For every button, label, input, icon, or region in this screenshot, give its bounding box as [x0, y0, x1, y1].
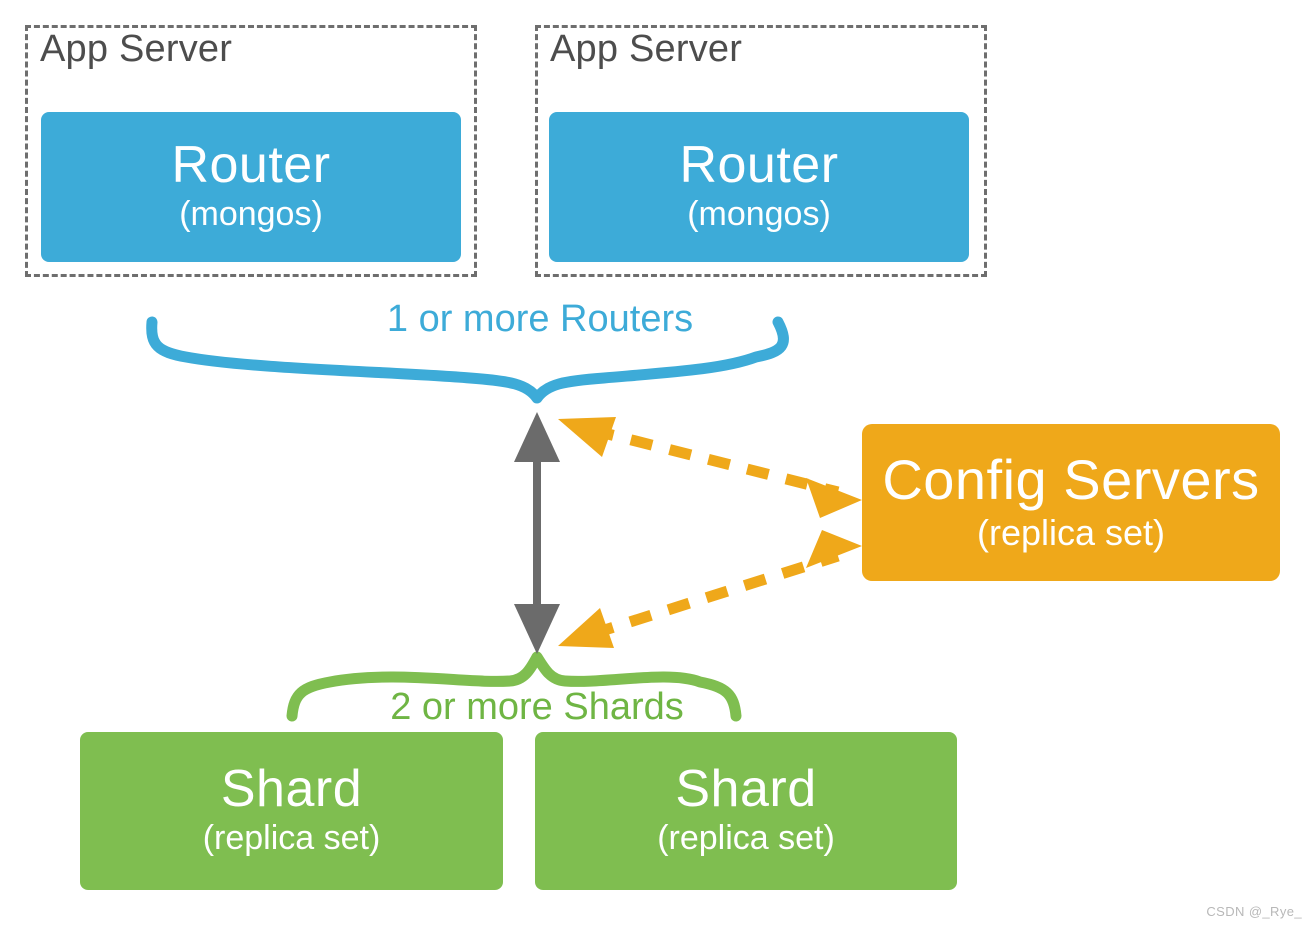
app-server-label-1: App Server	[40, 30, 232, 70]
shard-box-1[interactable]: Shard (replica set)	[80, 732, 503, 890]
routers-brace-caption: 1 or more Routers	[150, 300, 930, 338]
router-box-2[interactable]: Router (mongos)	[549, 112, 969, 262]
shards-brace-caption: 2 or more Shards	[290, 688, 784, 726]
router-title-1: Router	[171, 139, 330, 191]
config-servers-title: Config Servers	[882, 452, 1259, 508]
router-subtitle-2: (mongos)	[687, 195, 831, 234]
diagram-canvas: App Server Router (mongos) App Server Ro…	[0, 0, 1310, 927]
config-shards-arrow	[558, 530, 862, 648]
config-servers-box[interactable]: Config Servers (replica set)	[862, 424, 1280, 581]
router-title-2: Router	[679, 139, 838, 191]
shard-title-1: Shard	[221, 763, 362, 815]
shard-box-2[interactable]: Shard (replica set)	[535, 732, 957, 890]
config-servers-subtitle: (replica set)	[977, 512, 1165, 553]
watermark: CSDN @_Rye_	[1206, 904, 1302, 919]
routers-shards-arrow	[514, 412, 560, 654]
shard-subtitle-1: (replica set)	[203, 819, 381, 858]
app-server-label-2: App Server	[550, 30, 742, 70]
router-box-1[interactable]: Router (mongos)	[41, 112, 461, 262]
shard-subtitle-2: (replica set)	[657, 819, 835, 858]
config-routers-arrow	[558, 417, 862, 518]
shard-title-2: Shard	[675, 763, 816, 815]
router-subtitle-1: (mongos)	[179, 195, 323, 234]
